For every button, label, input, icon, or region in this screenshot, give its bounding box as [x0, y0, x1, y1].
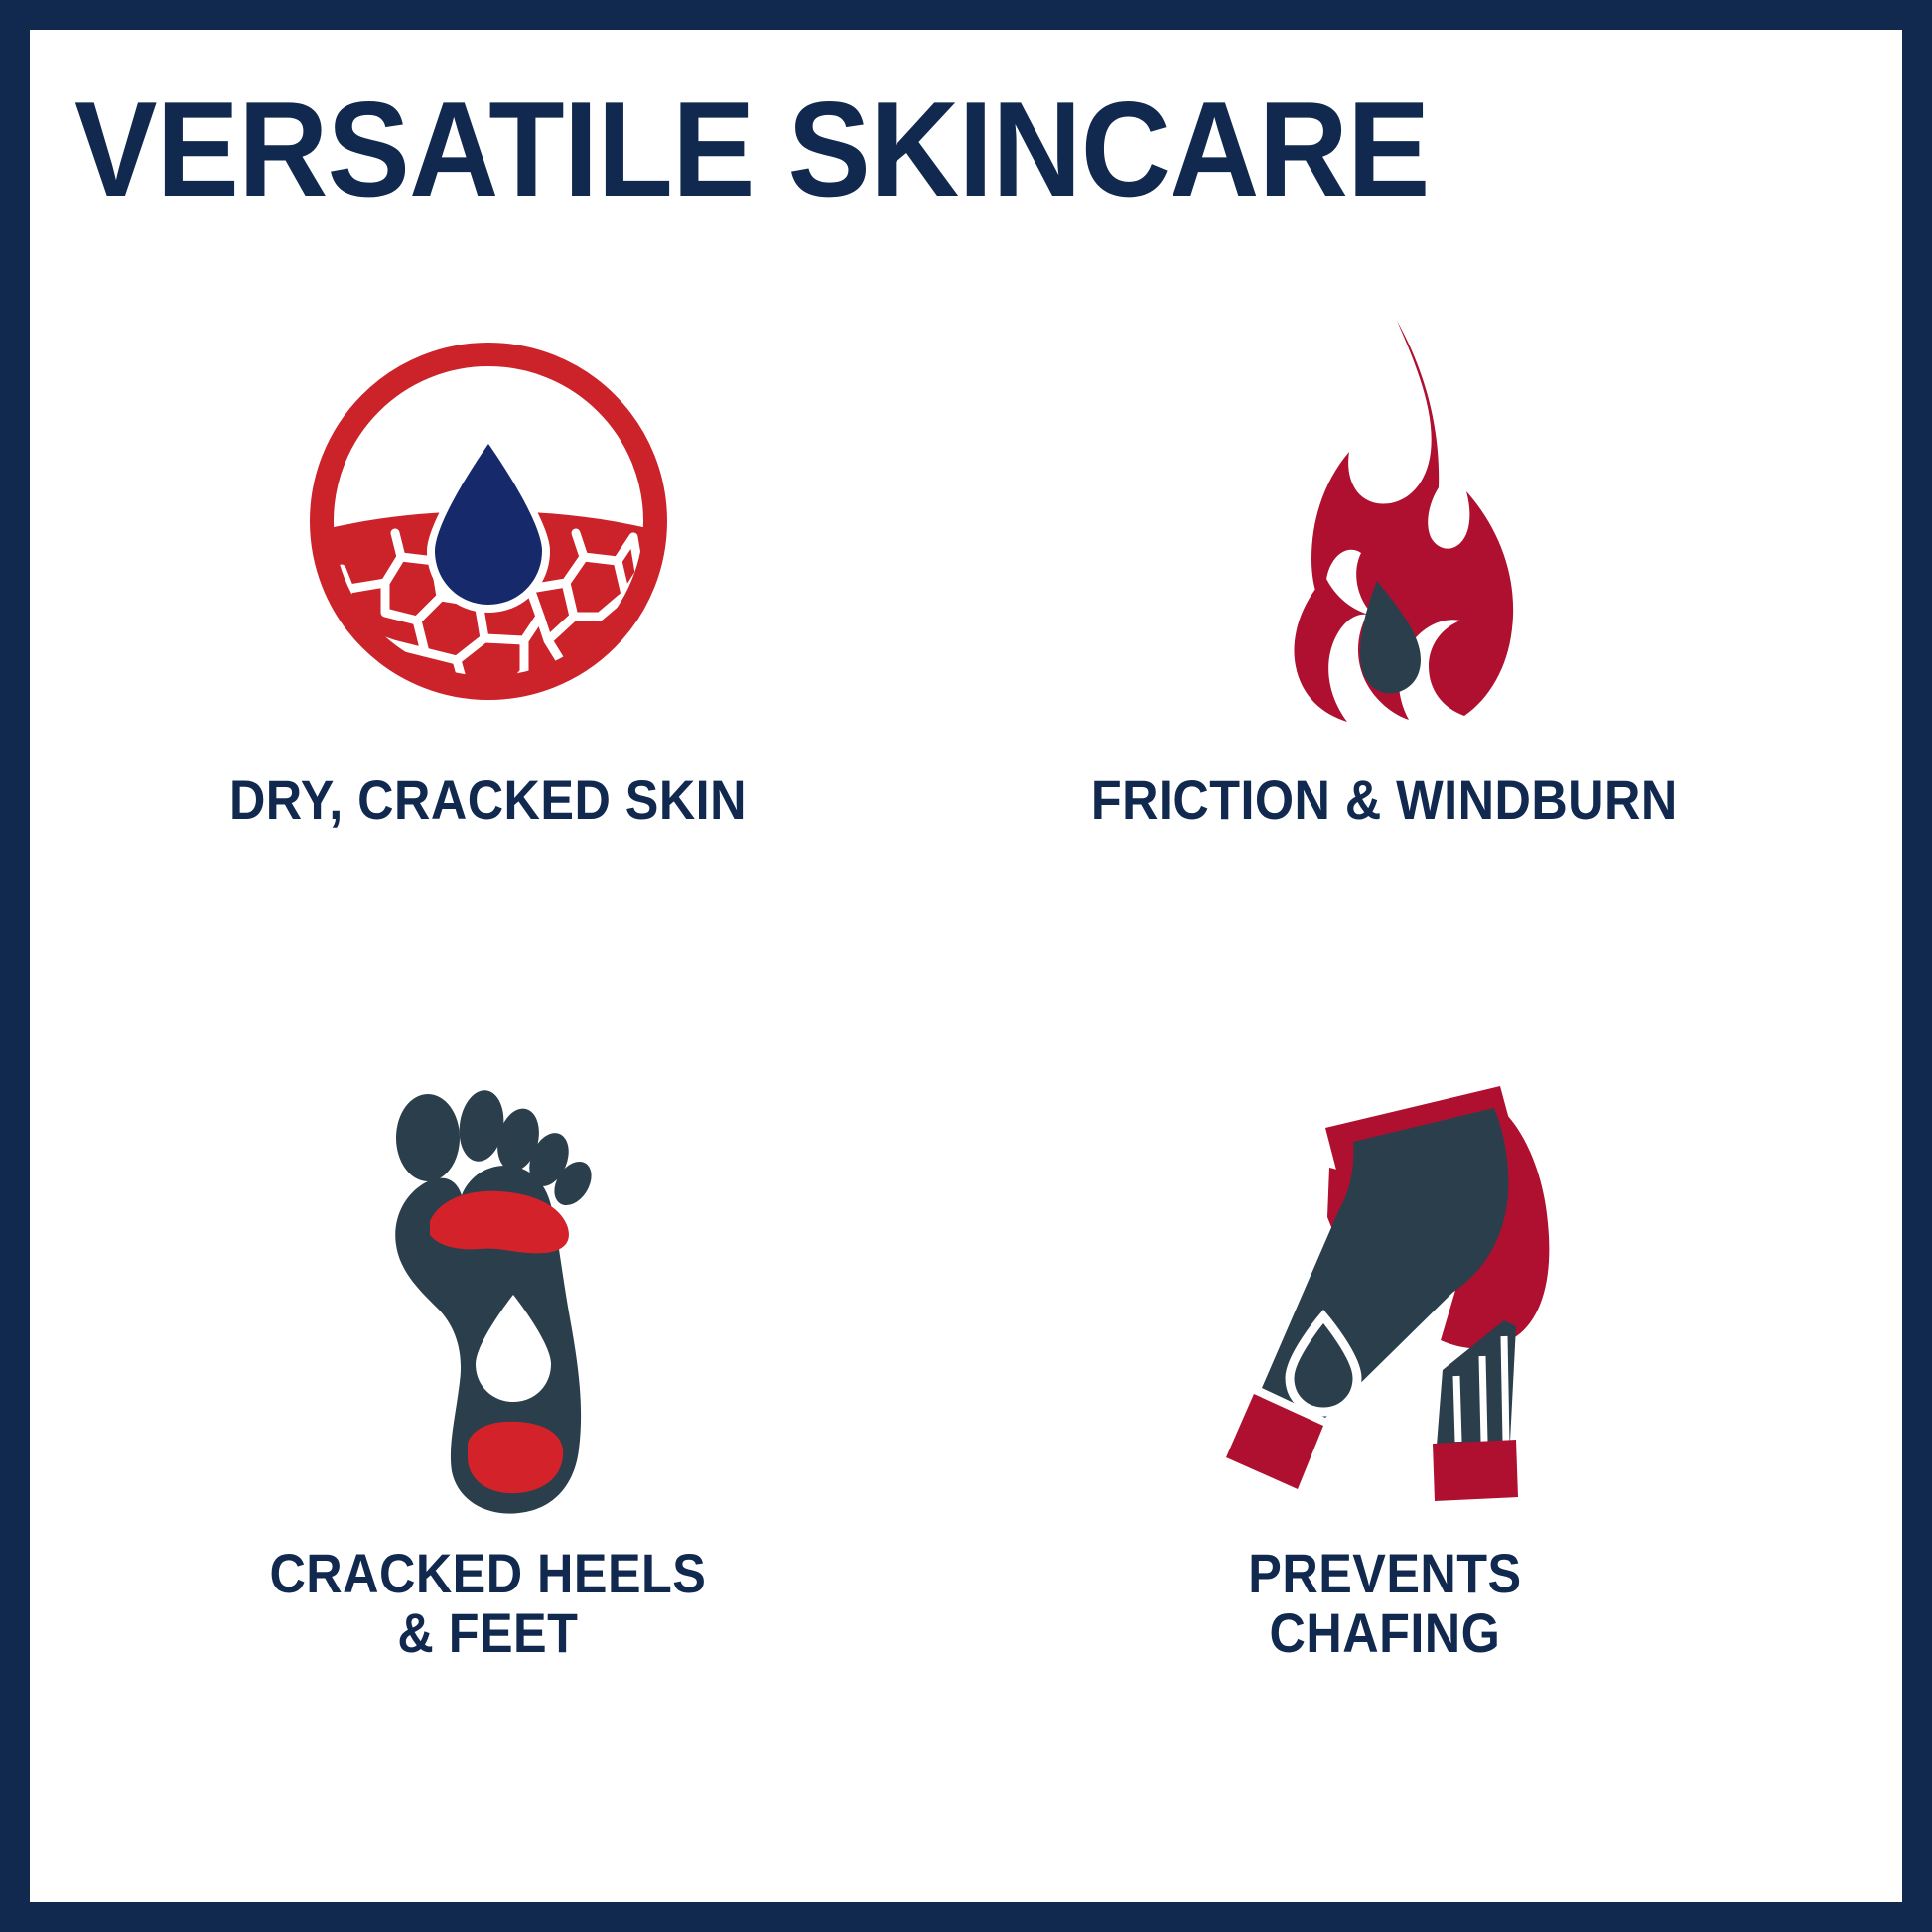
cracked-skin-circle-icon: [290, 298, 687, 745]
feature-cell-friction-windburn: FRICTION & WINDBURN: [936, 298, 1833, 1057]
footprint-icon: [364, 1057, 613, 1524]
feature-label-cracked-heels-feet: CRACKED HEELS & FEET: [270, 1544, 707, 1664]
feature-grid: DRY, CRACKED SKIN FRICTION & WINDBURN: [40, 298, 1833, 1817]
feature-label-dry-cracked-skin: DRY, CRACKED SKIN: [229, 770, 747, 830]
page-title: VERSATILE SKINCARE: [74, 81, 1627, 216]
infographic-poster: VERSATILE SKINCARE: [0, 0, 1932, 1932]
flame-icon: [1226, 298, 1544, 745]
feature-cell-dry-cracked-skin: DRY, CRACKED SKIN: [40, 298, 936, 1057]
feature-label-friction-windburn: FRICTION & WINDBURN: [1091, 770, 1678, 830]
feature-cell-cracked-heels-feet: CRACKED HEELS & FEET: [40, 1057, 936, 1817]
feature-label-prevents-chafing: PREVENTS CHAFING: [1248, 1544, 1521, 1664]
cycling-shorts-icon: [1206, 1057, 1564, 1524]
feature-cell-prevents-chafing: PREVENTS CHAFING: [936, 1057, 1833, 1817]
